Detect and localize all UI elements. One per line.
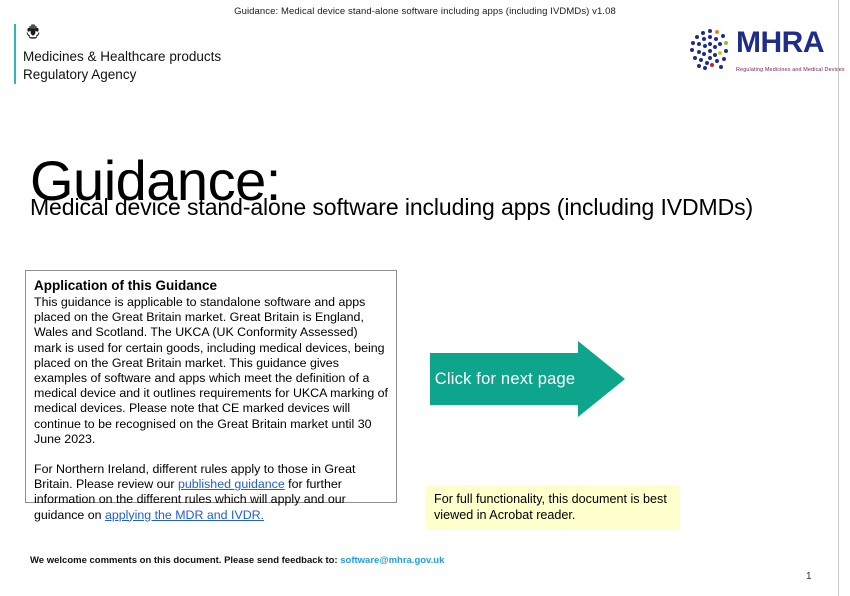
mhra-dot-cloud-logo-icon xyxy=(688,27,732,76)
mhra-wordmark: MHRA xyxy=(736,26,824,59)
footer-feedback-note: We welcome comments on this document. Pl… xyxy=(30,554,444,567)
mhra-brand-logo: MHRA Regulating Medicines and Medical De… xyxy=(688,27,850,76)
department-name: Medicines & Healthcare products Regulato… xyxy=(23,49,221,82)
department-lockup: Medicines & Healthcare products Regulato… xyxy=(14,24,221,84)
mhra-tagline: Regulating Medicines and Medical Devices xyxy=(736,67,845,73)
feedback-email-link[interactable]: software@mhra.gov.uk xyxy=(340,555,444,566)
footer-text: We welcome comments on this document. Pl… xyxy=(30,555,340,566)
paragraph-1-text: This guidance is applicable to standalon… xyxy=(34,295,388,446)
acrobat-reader-note: For full functionality, this document is… xyxy=(426,485,680,530)
click-for-next-page-button[interactable]: Click for next page xyxy=(430,341,625,417)
lockup-rule xyxy=(14,24,16,84)
mhra-wordmark-block: MHRA Regulating Medicines and Medical De… xyxy=(736,28,850,76)
published-guidance-link[interactable]: published guidance xyxy=(178,477,285,491)
application-box-heading: Application of this Guidance xyxy=(34,277,388,294)
applying-mdr-ivdr-link[interactable]: applying the MDR and IVDR. xyxy=(105,508,264,522)
application-box-paragraph-2: For Northern Ireland, different rules ap… xyxy=(34,462,388,523)
document-page: Guidance: Medical device stand-alone sof… xyxy=(0,0,850,596)
lockup-body: Medicines & Healthcare products Regulato… xyxy=(23,24,221,84)
page-right-edge xyxy=(838,0,839,596)
page-subtitle: Medical device stand-alone software incl… xyxy=(30,192,753,222)
running-header: Guidance: Medical device stand-alone sof… xyxy=(0,6,850,17)
application-of-guidance-box: Application of this Guidance This guidan… xyxy=(25,270,397,503)
right-arrow-icon xyxy=(430,341,625,417)
royal-coat-of-arms-crest-icon xyxy=(24,24,221,44)
page-number: 1 xyxy=(806,571,812,583)
application-box-paragraph-1: This guidance is applicable to standalon… xyxy=(34,295,388,447)
